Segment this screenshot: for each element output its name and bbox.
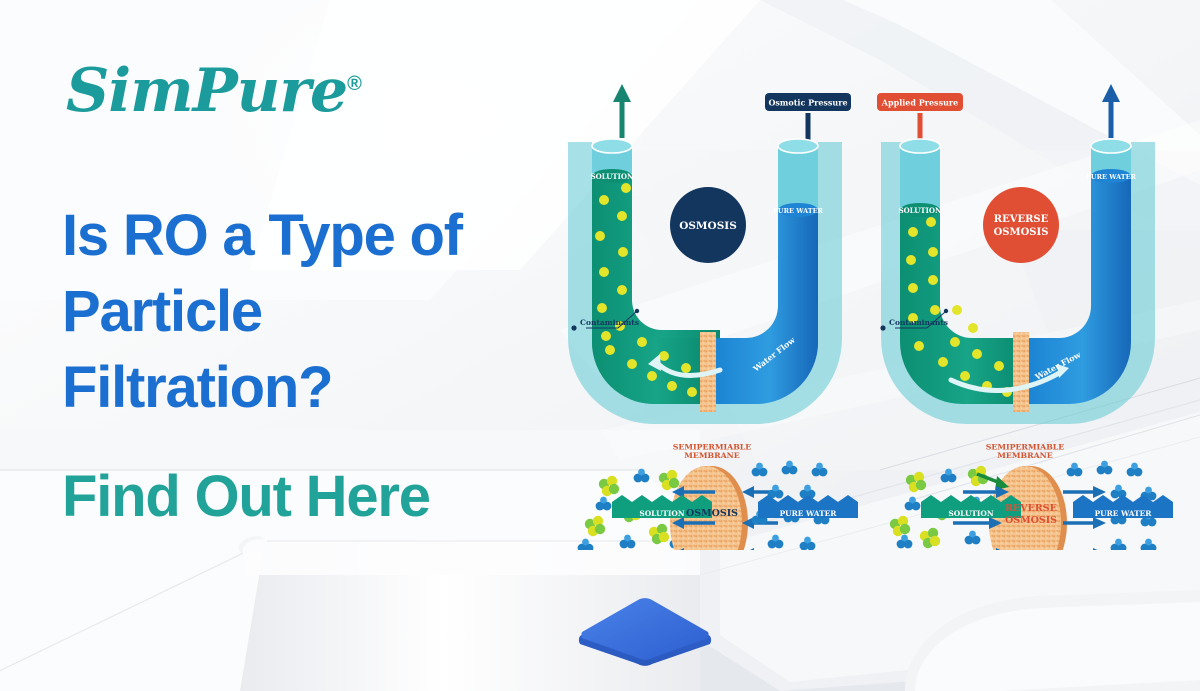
headline-line-3: Filtration? [62,350,582,426]
ro-membrane-caption-line2: MEMBRANE [997,451,1052,460]
reverse-osmosis-center-line2: OSMOSIS [994,227,1049,238]
ro-legend-center-line2: OSMOSIS [1005,515,1057,526]
headline-line-2: Particle [62,274,582,350]
reverse-osmosis-center-badge [983,187,1059,263]
blue-tile-decoration [560,592,730,678]
ro-pure-water-rise-arrow-icon [1102,84,1120,138]
legend-solution-label: SOLUTION [639,509,684,518]
applied-pressure-label: Applied Pressure [881,98,958,108]
headline-line-1: Is RO a Type of [62,198,582,274]
pure-water-tube-label: PURE WATER [773,207,824,215]
applied-pressure-badge[interactable]: Applied Pressure [877,93,963,111]
contaminants-label: Contaminants [580,318,639,327]
ro-solution-tube [900,139,940,210]
osmosis-center-label: OSMOSIS [679,220,737,232]
ro-solution-tube-label: SOLUTION [899,206,942,215]
osmotic-pressure-label: Osmotic Pressure [768,98,847,108]
solution-tube-label: SOLUTION [591,172,634,181]
osmosis-panel: Osmotic Pressure [560,80,852,550]
brand-logo-text: SimPure® [66,48,346,127]
hero-banner: SimPure® Is RO a Type of Particle Filtra… [0,0,1200,691]
brand-logo[interactable]: SimPure® [66,48,346,120]
brand-logo-wordmark: SimPure [66,56,347,126]
legend-pure-water-label: PURE WATER [780,509,838,518]
reverse-osmosis-center-line1: REVERSE [994,214,1049,225]
ro-pure-water-tube-label: PURE WATER [1086,173,1137,181]
osmosis-diagram: Osmotic Pressure [560,80,1200,550]
registered-trademark-icon: ® [347,73,361,95]
ro-legend-center-line1: REVERSE [1005,503,1057,514]
osmotic-pressure-badge[interactable]: Osmotic Pressure [765,93,851,111]
ro-legend-solution-label: SOLUTION [948,509,993,518]
osmosis-solution-rise-arrow-icon [613,84,631,138]
subheadline: Find Out Here [62,462,430,532]
ro-contaminants-label: Contaminants [889,318,948,327]
headline-block: Is RO a Type of Particle Filtration? [62,198,582,426]
ro-u-tube-membrane [1013,332,1029,412]
ro-legend-pure-water-label: PURE WATER [1095,509,1153,518]
pure-water-tube [778,139,818,210]
legend-osmosis-label: OSMOSIS [686,508,738,519]
osmosis-membrane-caption-line2: MEMBRANE [684,451,739,460]
reverse-osmosis-panel: Applied Pressure [877,84,1156,550]
